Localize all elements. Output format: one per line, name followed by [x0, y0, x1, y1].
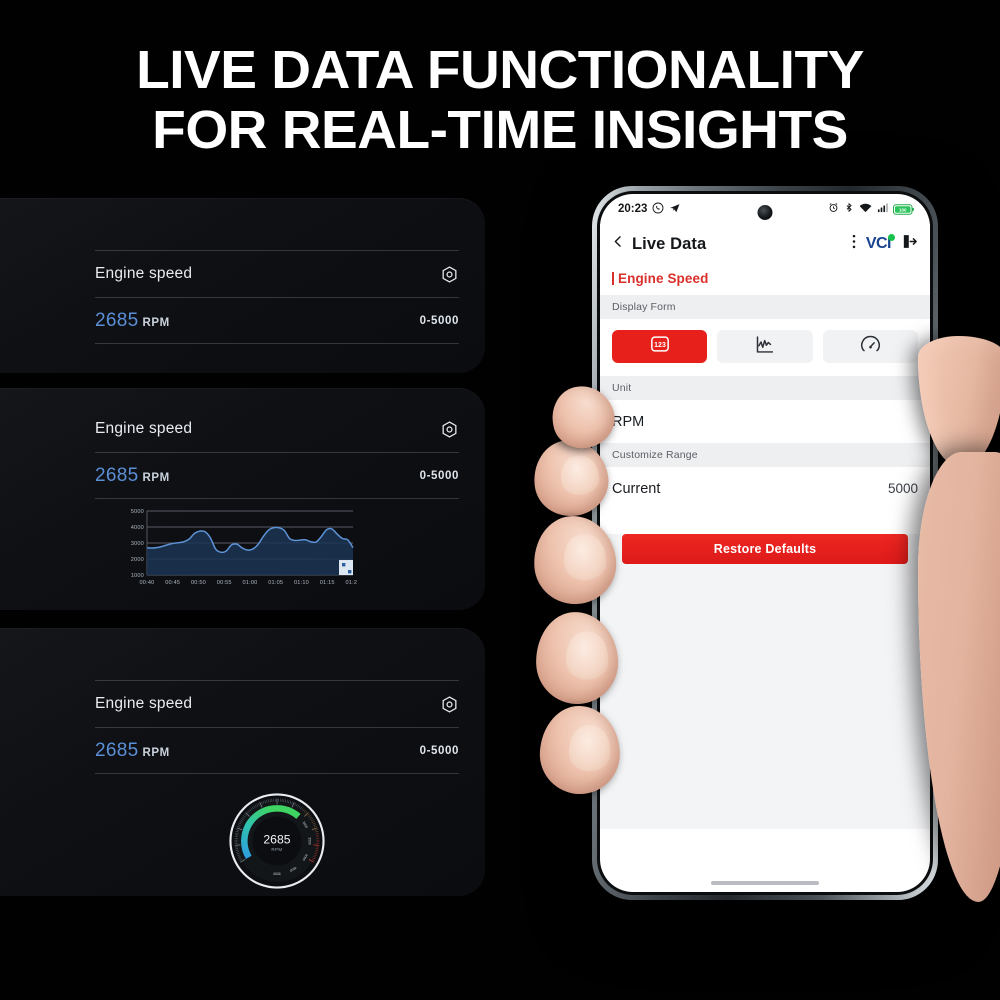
card-title-row: Engine speed	[95, 406, 459, 452]
divider	[95, 498, 459, 499]
card-title-row: Engine speed	[95, 681, 459, 727]
card-range: 0-5000	[420, 315, 459, 327]
bluetooth-icon	[844, 202, 854, 216]
display-form-panel: 123	[600, 319, 930, 376]
headline-line-2: FOR REAL-TIME INSIGHTS	[0, 100, 1000, 160]
card-value-group: 2685RPM	[95, 310, 170, 332]
chart-x-tick: 00:45	[165, 580, 180, 586]
chart-y-tick: 3000	[131, 541, 144, 547]
gear-icon[interactable]	[440, 420, 459, 439]
unit-row[interactable]: RPM	[600, 400, 930, 443]
card-value-row: 2685RPM 0-5000	[95, 453, 459, 498]
alarm-icon	[828, 202, 839, 216]
battery-icon: 100	[893, 204, 914, 215]
back-chevron-icon[interactable]	[611, 233, 625, 255]
exit-icon[interactable]	[901, 233, 918, 255]
card-title: Engine speed	[95, 420, 192, 438]
current-range-label: Current	[612, 481, 660, 497]
chart-x-tick: 01:05	[268, 580, 283, 586]
card-unit: RPM	[142, 747, 169, 759]
app-bar: Live Data VCI	[600, 224, 930, 264]
gauge-value: 2685	[263, 832, 290, 846]
gauge-tick	[235, 845, 241, 846]
gear-icon[interactable]	[440, 265, 459, 284]
status-time: 20:23	[618, 203, 647, 215]
unit-value: RPM	[612, 414, 644, 430]
phone-bezel: 20:23	[597, 191, 933, 895]
current-range-value: 5000	[888, 481, 918, 496]
digits-123-icon: 123	[650, 334, 670, 359]
card-value-group: 2685RPM	[95, 465, 170, 487]
divider	[95, 773, 459, 774]
card-range: 0-5000	[420, 470, 459, 482]
live-data-card-numeric: Engine speed 2685RPM 0-5000	[0, 198, 485, 373]
card-value: 2685	[95, 740, 138, 761]
gauge-tick-label: 3500	[308, 837, 312, 844]
card-value-row: 2685RPM 0-5000	[95, 298, 459, 343]
card-unit: RPM	[142, 472, 169, 484]
app-bar-right: VCI	[852, 233, 918, 255]
wifi-icon	[859, 202, 872, 216]
vci-status-button[interactable]: VCI	[866, 235, 891, 253]
pid-accent-bar	[612, 272, 614, 285]
restore-defaults-button[interactable]: Restore Defaults	[622, 534, 908, 564]
signal-icon	[877, 202, 888, 216]
card-title-row: Engine speed	[95, 251, 459, 297]
line-chart-icon	[754, 334, 775, 360]
chart-x-tick: 01:00	[243, 580, 258, 586]
phone-screen: 20:23	[600, 194, 930, 892]
page-title: LIVE DATA FUNCTIONALITY FOR REAL-TIME IN…	[0, 40, 1000, 161]
live-data-card-gauge: Engine speed 2685RPM 0-5000 5	[0, 628, 485, 896]
display-form-numeric-button[interactable]: 123	[612, 330, 707, 363]
gear-icon[interactable]	[440, 695, 459, 714]
live-data-card-graph: Engine speed 2685RPM 0-5000 100020003000…	[0, 388, 485, 610]
chart-x-tick: 01:15	[320, 580, 335, 586]
card-value: 2685	[95, 310, 138, 331]
current-range-row[interactable]: Current 5000	[600, 467, 930, 510]
chart-x-tick: 00:40	[140, 580, 155, 586]
pid-name: Engine Speed	[618, 271, 708, 286]
card-title: Engine speed	[95, 265, 192, 283]
chart-y-tick: 4000	[131, 525, 144, 531]
chart-y-tick: 5000	[131, 509, 144, 515]
chart-resize-handle[interactable]	[339, 560, 353, 575]
section-header-display-form: Display Form	[600, 295, 930, 319]
gauge-tick-label: 5000	[273, 872, 280, 876]
poster-canvas: LIVE DATA FUNCTIONALITY FOR REAL-TIME IN…	[0, 0, 1000, 1000]
display-form-gauge-button[interactable]	[823, 330, 918, 363]
pid-title: Engine Speed	[600, 264, 930, 295]
section-header-customize-range: Customize Range	[600, 443, 930, 467]
whatsapp-icon	[652, 202, 664, 217]
app-bar-left: Live Data	[611, 233, 706, 255]
gesture-bar[interactable]	[711, 881, 819, 885]
content-spacer: Restore Defaults	[600, 534, 930, 829]
section-header-unit: Unit	[600, 376, 930, 400]
vci-connected-dot	[888, 234, 895, 241]
live-data-line-chart: 1000200030004000500000:4000:4500:5000:55…	[117, 503, 357, 595]
telegram-icon	[669, 202, 681, 217]
gauge-tick	[314, 845, 320, 846]
chart-x-tick: 00:55	[217, 580, 232, 586]
phone-device: 20:23	[592, 186, 938, 900]
front-camera-icon	[758, 205, 773, 220]
chart-x-tick: 01:10	[294, 580, 309, 586]
card-title: Engine speed	[95, 695, 192, 713]
card-value-row: 2685RPM 0-5000	[95, 728, 459, 773]
rpm-gauge: 5001000150020002500300035004000450050002…	[95, 792, 459, 890]
card-value-group: 2685RPM	[95, 740, 170, 762]
overflow-menu-icon[interactable]	[852, 233, 856, 255]
gauge-unit: RPM	[271, 847, 282, 852]
chart-x-tick: 01:20	[346, 580, 358, 586]
chart-x-tick: 00:50	[191, 580, 206, 586]
svg-text:123: 123	[654, 342, 666, 349]
display-form-options: 123	[600, 319, 930, 376]
card-value: 2685	[95, 465, 138, 486]
card-unit: RPM	[142, 317, 169, 329]
gauge-dial-icon	[860, 334, 881, 360]
chart-y-tick: 2000	[131, 557, 144, 563]
status-bar-left: 20:23	[618, 202, 681, 217]
battery-level: 100	[899, 207, 907, 212]
chart-y-tick: 1000	[131, 573, 144, 579]
app-bar-title: Live Data	[632, 235, 706, 254]
headline-line-1: LIVE DATA FUNCTIONALITY	[0, 40, 1000, 100]
card-range: 0-5000	[420, 745, 459, 757]
display-form-graph-button[interactable]	[717, 330, 812, 363]
status-bar-right: 100	[828, 202, 914, 216]
divider	[95, 343, 459, 344]
